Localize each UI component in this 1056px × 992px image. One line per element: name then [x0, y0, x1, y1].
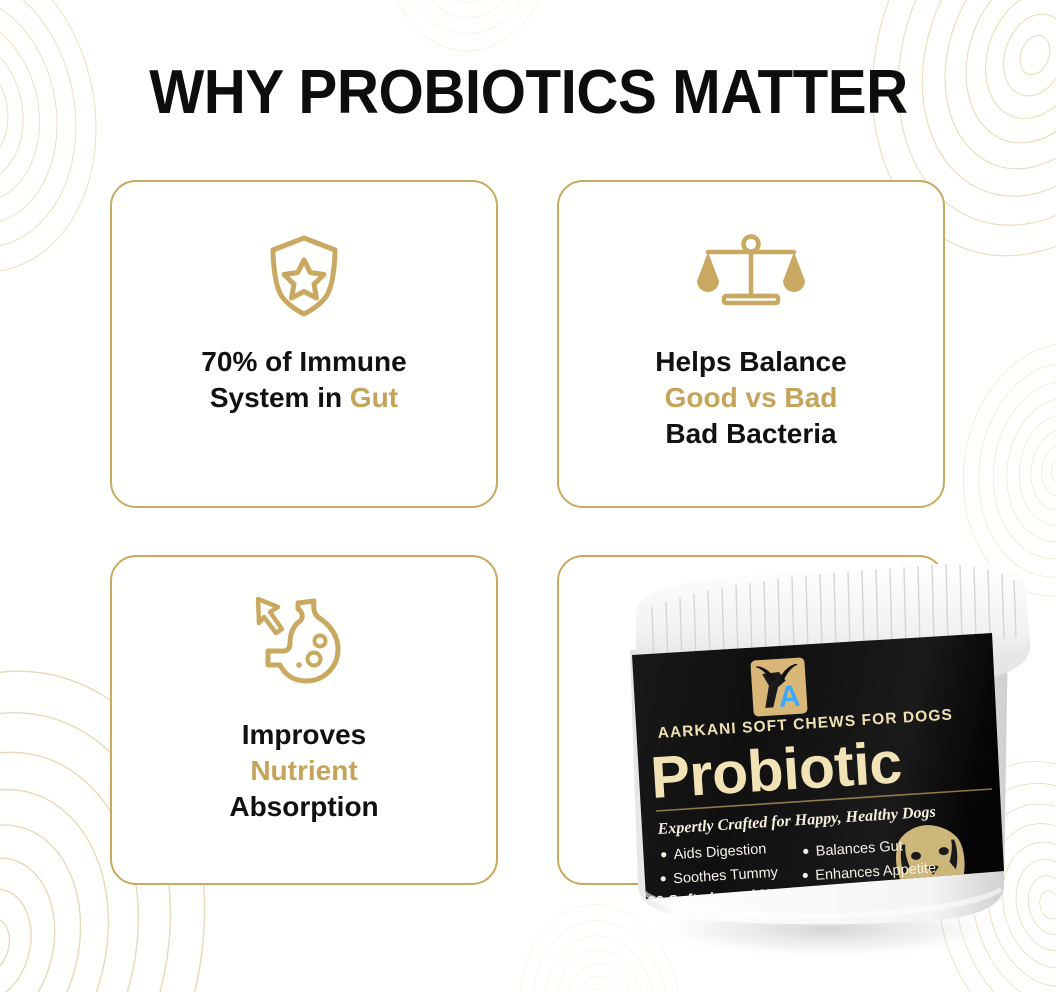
- benefit-card-absorption: Improves Nutrient Absorption: [110, 555, 498, 885]
- immune-line-1: 70% of Immune: [201, 346, 406, 377]
- shield-star-icon: [267, 234, 341, 318]
- page-title-text: WHY PROBIOTICS MATTER: [149, 62, 908, 124]
- immune-line-2-prefix: System in: [210, 382, 350, 413]
- absorption-line-1: Improves: [242, 719, 367, 750]
- benefit-card-immune-text: 70% of Immune System in Gut: [181, 344, 426, 416]
- absorption-line-3: Absorption: [229, 791, 378, 822]
- benefit-card-grid: 70% of Immune System in Gut: [110, 180, 955, 895]
- benefit-card-absorption-text: Improves Nutrient Absorption: [209, 717, 398, 824]
- benefit-card-immune: 70% of Immune System in Gut: [110, 180, 498, 508]
- benefit-card-balance: Helps Balance Good vs Bad Bad Bacteria: [557, 180, 945, 508]
- stomach-absorption-icon: [254, 599, 354, 683]
- page-title: WHY PROBIOTICS MATTER: [0, 62, 1056, 124]
- balance-scale-icon: [696, 234, 806, 318]
- balance-line-3: Bad Bacteria: [665, 418, 836, 449]
- jar-shadow: [642, 899, 1014, 959]
- benefit-card-balance-text: Helps Balance Good vs Bad Bad Bacteria: [635, 344, 866, 451]
- balance-line-1: Helps Balance: [655, 346, 846, 377]
- balance-line-2-highlight: Good vs Bad: [665, 382, 838, 413]
- immune-line-2-highlight: Gut: [350, 382, 398, 413]
- benefit-card-product: [557, 555, 945, 885]
- absorption-line-2-highlight: Nutrient: [250, 755, 357, 786]
